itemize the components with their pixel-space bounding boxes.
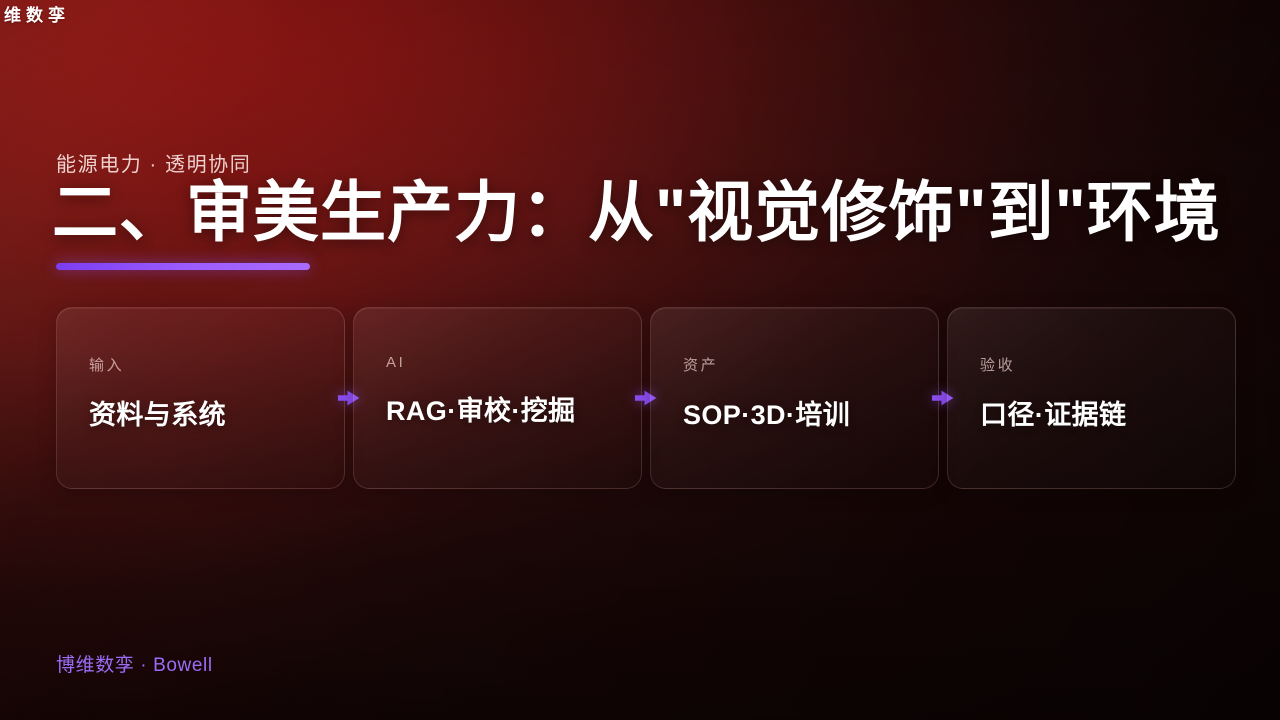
title-accent-underline xyxy=(56,263,310,270)
slide-footer-brand: 博维数孪 · Bowell xyxy=(56,650,213,677)
pipeline-step-title: 资料与系统 xyxy=(89,393,344,432)
pipeline-step-card[interactable]: 验收 口径·证据链 xyxy=(947,307,1236,489)
pipeline-step-card[interactable]: 资产 SOP·3D·培训 xyxy=(650,307,939,489)
pipeline-step-title: RAG·审校·挖掘 xyxy=(386,389,641,428)
pipeline-step-label: 验收 xyxy=(980,354,1235,375)
pipeline-step-label: 输入 xyxy=(89,354,344,375)
presentation-slide: 博维数孪 能源电力 · 透明协同 二、审美生产力：从"视觉修饰"到"环境 输入 … xyxy=(0,0,1280,720)
pipeline-step-title: 口径·证据链 xyxy=(980,393,1235,432)
pipeline-step-card[interactable]: AI RAG·审校·挖掘 xyxy=(353,307,642,489)
pipeline-step-label: AI xyxy=(386,354,641,371)
pipeline-connector xyxy=(939,307,947,489)
page-title: 二、审美生产力：从"视觉修饰"到"环境 xyxy=(52,178,1221,248)
pipeline-flow: 输入 资料与系统 AI RAG·审校·挖掘 资产 SOP·3D·培训 xyxy=(56,307,1236,489)
slide-kicker: 能源电力 · 透明协同 xyxy=(56,148,251,177)
brand-logo-mark: 博维数孪 xyxy=(0,1,70,26)
pipeline-connector xyxy=(345,307,353,489)
pipeline-step-title: SOP·3D·培训 xyxy=(683,393,938,432)
pipeline-step-card[interactable]: 输入 资料与系统 xyxy=(56,307,345,489)
pipeline-step-label: 资产 xyxy=(683,354,938,375)
pipeline-connector xyxy=(642,307,650,489)
